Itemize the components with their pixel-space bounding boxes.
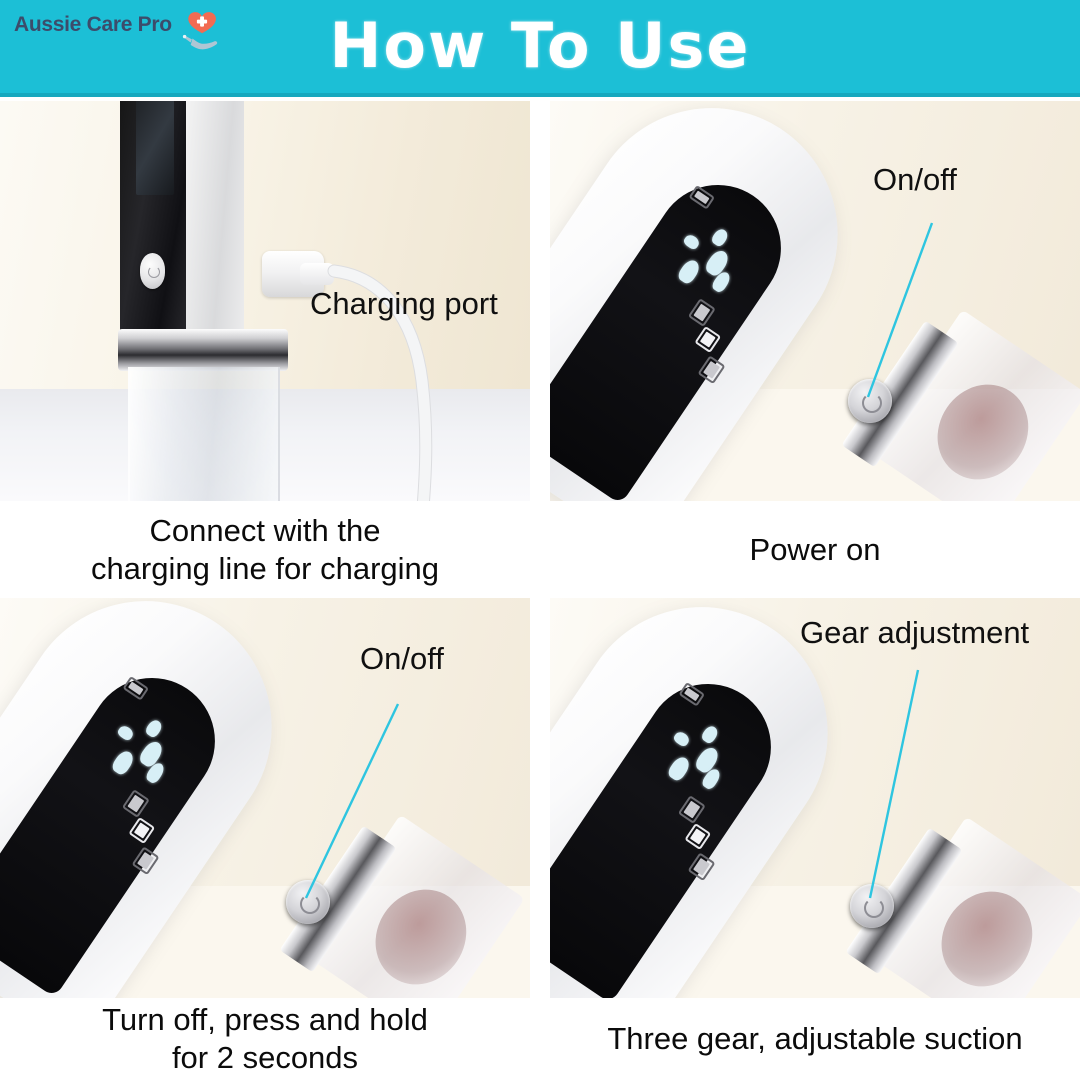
annotation-charging-port: Charging port — [310, 287, 498, 321]
product-photo-charging: Charging port — [0, 101, 530, 501]
power-button — [140, 253, 165, 289]
caption-gear: Three gear, adjustable suction — [550, 998, 1080, 1080]
leader-line-onoff — [550, 101, 1080, 501]
caption-line-2: charging line for charging — [6, 550, 524, 588]
annotation-onoff: On/off — [873, 163, 957, 197]
leader-line-onoff — [0, 598, 530, 998]
annotation-onoff: On/off — [360, 642, 444, 676]
step-panel-power-on: On/off Power on — [550, 101, 1080, 598]
caption-line-2: for 2 seconds — [6, 1039, 524, 1077]
page-title: How To Use — [0, 8, 1080, 84]
step-panel-charging: Charging port Connect with the charging … — [0, 101, 530, 598]
header-bar: Aussie Care Pro How To Use — [0, 0, 1080, 97]
product-photo-turn-off: On/off — [0, 598, 530, 998]
step-panel-gear: Gear adjustment Three gear, adjustable s… — [550, 598, 1080, 1080]
caption-charging: Connect with the charging line for charg… — [0, 501, 530, 598]
annotation-gear-adjustment: Gear adjustment — [800, 616, 1029, 650]
product-photo-power-on: On/off — [550, 101, 1080, 501]
device-screen — [136, 101, 174, 195]
caption-line-1: Power on — [556, 531, 1074, 569]
leader-line-gear — [550, 598, 1080, 998]
caption-turn-off: Turn off, press and hold for 2 seconds — [0, 998, 530, 1080]
product-photo-gear: Gear adjustment — [550, 598, 1080, 998]
step-panel-turn-off: On/off Turn off, press and hold for 2 se… — [0, 598, 530, 1080]
steps-grid: Charging port Connect with the charging … — [0, 101, 1080, 1080]
caption-power-on: Power on — [550, 501, 1080, 598]
caption-line-1: Turn off, press and hold — [6, 1001, 524, 1039]
caption-line-1: Connect with the — [6, 512, 524, 550]
charging-cable — [250, 231, 530, 501]
caption-line-1: Three gear, adjustable suction — [556, 1020, 1074, 1058]
how-to-use-infographic: Aussie Care Pro How To Use — [0, 0, 1080, 1080]
